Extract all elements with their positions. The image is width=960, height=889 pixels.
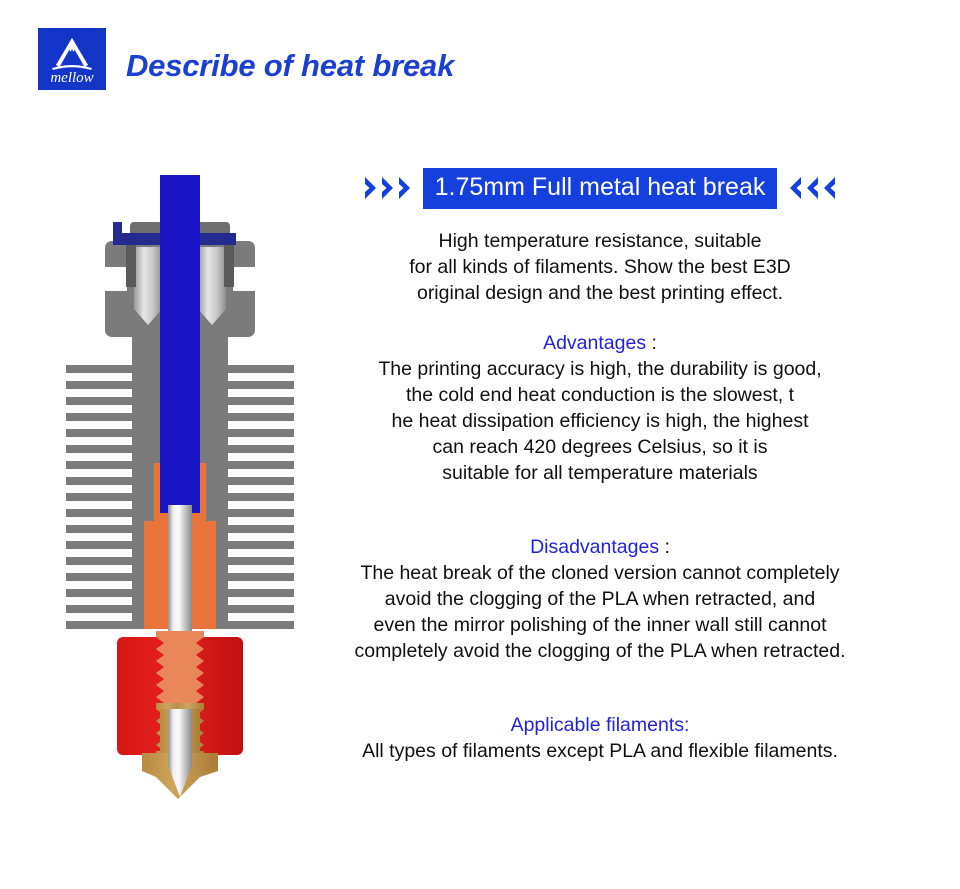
chevron-right-icon	[397, 175, 413, 201]
advantages-line: can reach 420 degrees Celsius, so it is	[300, 434, 900, 460]
advantages-line: he heat dissipation efficiency is high, …	[300, 408, 900, 434]
advantages-line: the cold end heat conduction is the slow…	[300, 382, 900, 408]
advantages-line: The printing accuracy is high, the durab…	[300, 356, 900, 382]
intro-line: High temperature resistance, suitable	[300, 228, 900, 254]
chevron-left-icon	[787, 175, 803, 201]
collet-finger-left	[134, 247, 162, 325]
chevrons-right	[787, 175, 837, 201]
advantages-heading: Advantages :	[300, 330, 900, 356]
disadvantages-section: Disadvantages : The heat break of the cl…	[300, 534, 900, 664]
disadvantages-line: The heat break of the cloned version can…	[300, 560, 900, 586]
slide-root: mellow Describe of heat break	[0, 0, 960, 889]
advantages-heading-punct: :	[646, 332, 657, 354]
header: mellow Describe of heat break	[38, 28, 454, 90]
banner-title: 1.75mm Full metal heat break	[423, 168, 778, 209]
coupler-notch-left	[105, 267, 127, 291]
applicable-heading: Applicable filaments:	[300, 712, 900, 738]
mountain-logo-icon: mellow	[38, 28, 106, 90]
disadvantages-line: avoid the clogging of the PLA when retra…	[300, 586, 900, 612]
hotend-diagram	[60, 175, 300, 800]
applicable-heading-punct: :	[684, 714, 689, 736]
applicable-line: All types of filaments except PLA and fl…	[300, 738, 900, 764]
chevron-right-icon	[363, 175, 379, 201]
advantages-line: suitable for all temperature materials	[300, 460, 900, 486]
disadvantages-heading-punct: :	[659, 536, 670, 558]
intro-line: original design and the best printing ef…	[300, 280, 900, 306]
advantages-heading-text: Advantages	[543, 332, 646, 354]
advantages-section: Advantages : The printing accuracy is hi…	[300, 330, 900, 486]
ptfe-filament-tube	[160, 175, 200, 519]
chevron-left-icon	[821, 175, 837, 201]
collet-finger-right	[198, 247, 226, 325]
disadvantages-line: completely avoid the clogging of the PLA…	[300, 638, 900, 664]
coupler-notch-right	[233, 267, 255, 291]
thread-core-upper	[164, 637, 196, 709]
banner-row: 1.75mm Full metal heat break	[300, 168, 900, 208]
chevron-left-icon	[804, 175, 820, 201]
disadvantages-heading-text: Disadvantages	[530, 536, 659, 558]
applicable-heading-text: Applicable filaments	[511, 714, 684, 736]
content-column: 1.75mm Full metal heat break High temper…	[300, 168, 900, 764]
mellow-logo: mellow	[38, 28, 106, 90]
intro-paragraph: High temperature resistance, suitable fo…	[300, 228, 900, 306]
intro-line: for all kinds of filaments. Show the bes…	[300, 254, 900, 280]
collet-shoulder-right	[224, 241, 234, 287]
disadvantages-heading: Disadvantages :	[300, 534, 900, 560]
applicable-section: Applicable filaments: All types of filam…	[300, 712, 900, 764]
filament-tube-body	[160, 175, 200, 513]
page-title: Describe of heat break	[126, 50, 454, 81]
logo-wordmark: mellow	[50, 70, 93, 86]
chevrons-left	[363, 175, 413, 201]
collet-shoulder-left	[126, 241, 136, 287]
chevron-right-icon	[380, 175, 396, 201]
disadvantages-line: even the mirror polishing of the inner w…	[300, 612, 900, 638]
